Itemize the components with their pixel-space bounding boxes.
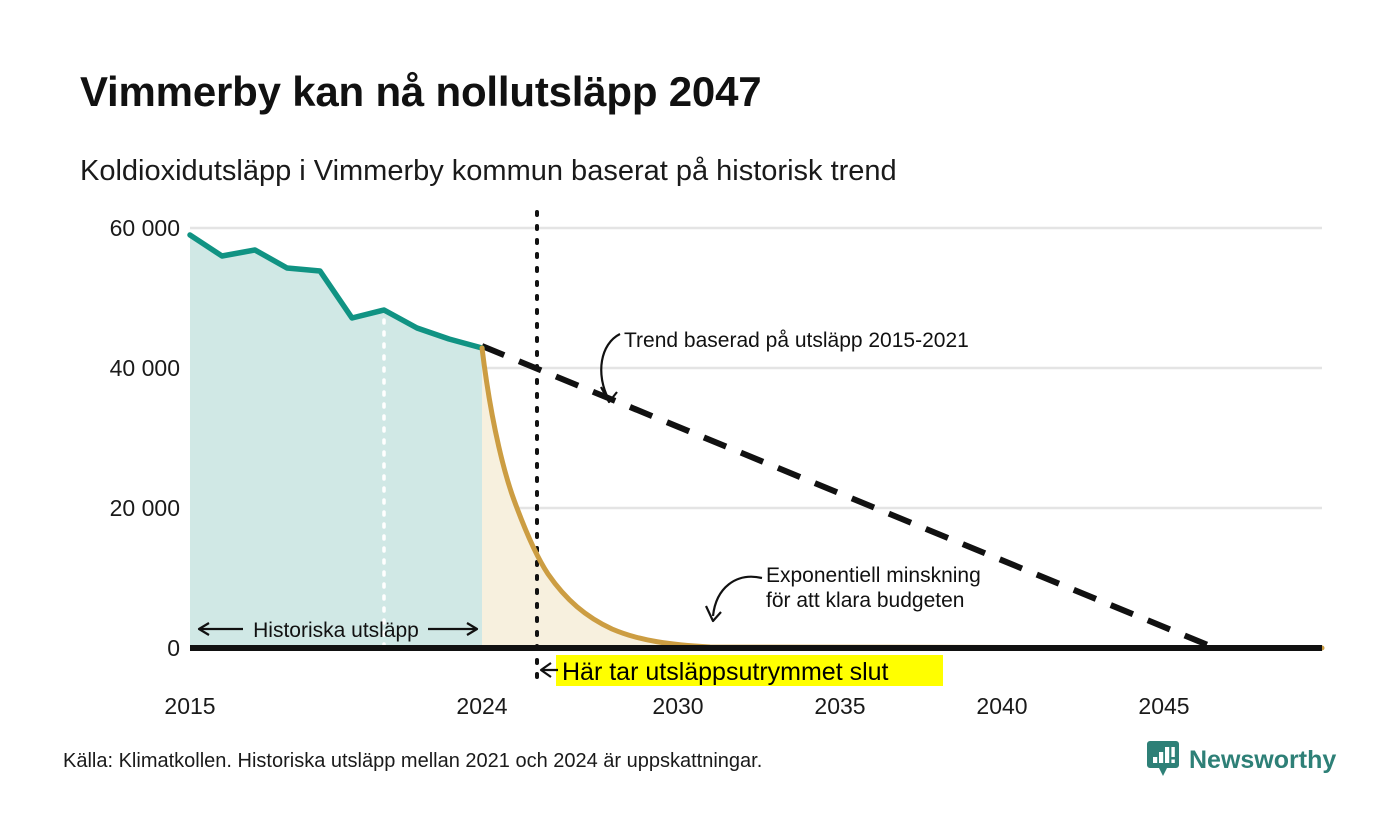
exponential-annotation-line1: Exponentiell minskning — [766, 564, 981, 587]
x-tick-label-2045: 2045 — [1138, 693, 1189, 719]
y-tick-label-60000: 60 000 — [110, 215, 180, 241]
x-tick-label-2030: 2030 — [652, 693, 703, 719]
trend-annotation-leader — [601, 334, 620, 398]
exponential-annotation-line2: för att klara budgeten — [766, 589, 964, 612]
y-tick-label-40000: 40 000 — [110, 355, 180, 381]
y-tick-label-20000: 20 000 — [110, 495, 180, 521]
historical-span-label: Historiska utsläpp — [253, 619, 419, 642]
x-tick-label-2040: 2040 — [976, 693, 1027, 719]
exponential-annotation-leader — [713, 577, 762, 616]
x-tick-label-2024: 2024 — [456, 693, 507, 719]
budget-end-label: Här tar utsläppsutrymmet slut — [562, 658, 889, 686]
chart-root: Vimmerby kan nå nollutsläpp 2047 Koldiox… — [0, 0, 1400, 840]
x-tick-label-2015: 2015 — [164, 693, 215, 719]
x-tick-label-2035: 2035 — [814, 693, 865, 719]
source-note: Källa: Klimatkollen. Historiska utsläpp … — [63, 750, 762, 773]
newsworthy-logo[interactable]: Newsworthy — [1146, 740, 1336, 780]
emissions-chart-svg: 60 000 40 000 20 000 0 2015 2024 2030 20… — [0, 0, 1400, 840]
newsworthy-bar-chart-bubble-icon — [1146, 740, 1180, 780]
newsworthy-logo-text: Newsworthy — [1189, 748, 1336, 773]
y-tick-label-0: 0 — [167, 635, 180, 661]
trend-annotation-label: Trend baserad på utsläpp 2015-2021 — [624, 329, 969, 352]
